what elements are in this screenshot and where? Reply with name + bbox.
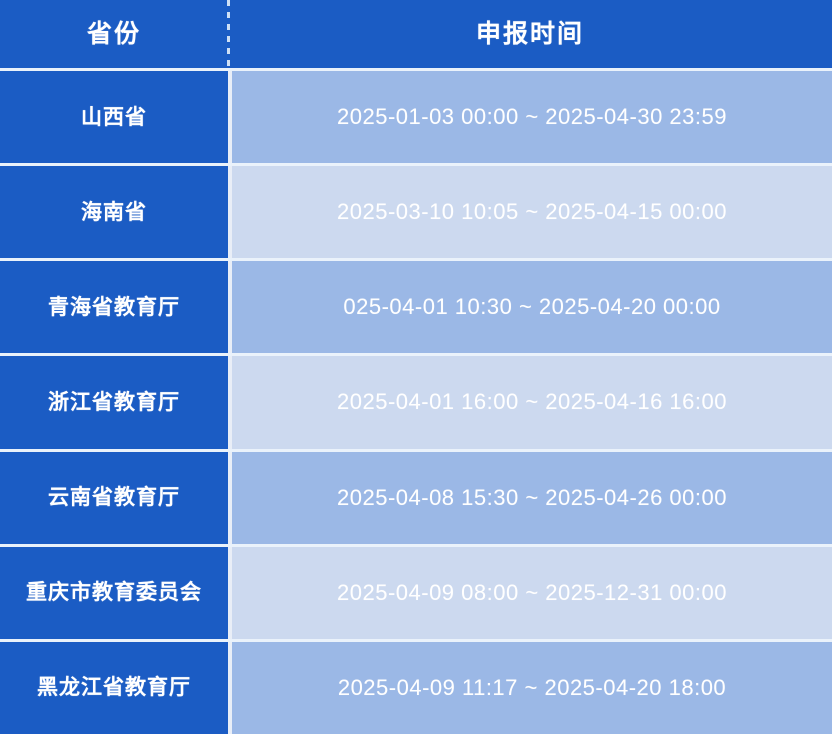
cell-declaration-time: 2025-01-03 00:00 ~ 2025-04-30 23:59 (232, 71, 832, 163)
table-row: 云南省教育厅 2025-04-08 15:30 ~ 2025-04-26 00:… (0, 449, 832, 544)
cell-declaration-time: 2025-04-01 16:00 ~ 2025-04-16 16:00 (232, 356, 832, 448)
cell-province: 重庆市教育委员会 (0, 547, 228, 639)
cell-province: 黑龙江省教育厅 (0, 642, 228, 734)
declaration-time-label: 2025-04-01 16:00 ~ 2025-04-16 16:00 (337, 390, 727, 414)
cell-declaration-time: 2025-04-09 11:17 ~ 2025-04-20 18:00 (232, 642, 832, 734)
province-label: 海南省 (81, 201, 147, 224)
cell-declaration-time: 2025-03-10 10:05 ~ 2025-04-15 00:00 (232, 166, 832, 258)
declaration-time-label: 2025-04-08 15:30 ~ 2025-04-26 00:00 (337, 486, 727, 510)
table-row: 海南省 2025-03-10 10:05 ~ 2025-04-15 00:00 (0, 163, 832, 258)
cell-province: 云南省教育厅 (0, 452, 228, 544)
province-label: 山西省 (81, 106, 147, 129)
declaration-time-label: 2025-01-03 00:00 ~ 2025-04-30 23:59 (337, 105, 727, 129)
declaration-schedule-table: 省份 申报时间 山西省 2025-01-03 00:00 ~ 2025-04-3… (0, 0, 832, 734)
table-header-row: 省份 申报时间 (0, 0, 832, 68)
province-label: 浙江省教育厅 (48, 391, 180, 414)
declaration-time-label: 2025-03-10 10:05 ~ 2025-04-15 00:00 (337, 200, 727, 224)
header-cell-time: 申报时间 (228, 0, 832, 68)
table-row: 重庆市教育委员会 2025-04-09 08:00 ~ 2025-12-31 0… (0, 544, 832, 639)
declaration-time-label: 2025-04-09 08:00 ~ 2025-12-31 00:00 (337, 581, 727, 605)
table-row: 青海省教育厅 025-04-01 10:30 ~ 2025-04-20 00:0… (0, 258, 832, 353)
header-label-province: 省份 (87, 22, 141, 47)
cell-declaration-time: 2025-04-09 08:00 ~ 2025-12-31 00:00 (232, 547, 832, 639)
table-grid: 省份 申报时间 山西省 2025-01-03 00:00 ~ 2025-04-3… (0, 0, 832, 734)
cell-declaration-time: 2025-04-08 15:30 ~ 2025-04-26 00:00 (232, 452, 832, 544)
province-label: 重庆市教育委员会 (26, 581, 202, 604)
cell-province: 山西省 (0, 71, 228, 163)
province-label: 云南省教育厅 (48, 486, 180, 509)
declaration-time-label: 025-04-01 10:30 ~ 2025-04-20 00:00 (343, 295, 720, 319)
cell-province: 海南省 (0, 166, 228, 258)
province-label: 黑龙江省教育厅 (37, 676, 191, 699)
cell-province: 浙江省教育厅 (0, 356, 228, 448)
cell-province: 青海省教育厅 (0, 261, 228, 353)
table-row: 黑龙江省教育厅 2025-04-09 11:17 ~ 2025-04-20 18… (0, 639, 832, 734)
cell-declaration-time: 025-04-01 10:30 ~ 2025-04-20 00:00 (232, 261, 832, 353)
table-row: 山西省 2025-01-03 00:00 ~ 2025-04-30 23:59 (0, 68, 832, 163)
header-cell-province: 省份 (0, 0, 228, 68)
table-row: 浙江省教育厅 2025-04-01 16:00 ~ 2025-04-16 16:… (0, 353, 832, 448)
declaration-time-label: 2025-04-09 11:17 ~ 2025-04-20 18:00 (338, 676, 726, 700)
header-label-time: 申报时间 (476, 22, 584, 47)
province-label: 青海省教育厅 (48, 296, 180, 319)
